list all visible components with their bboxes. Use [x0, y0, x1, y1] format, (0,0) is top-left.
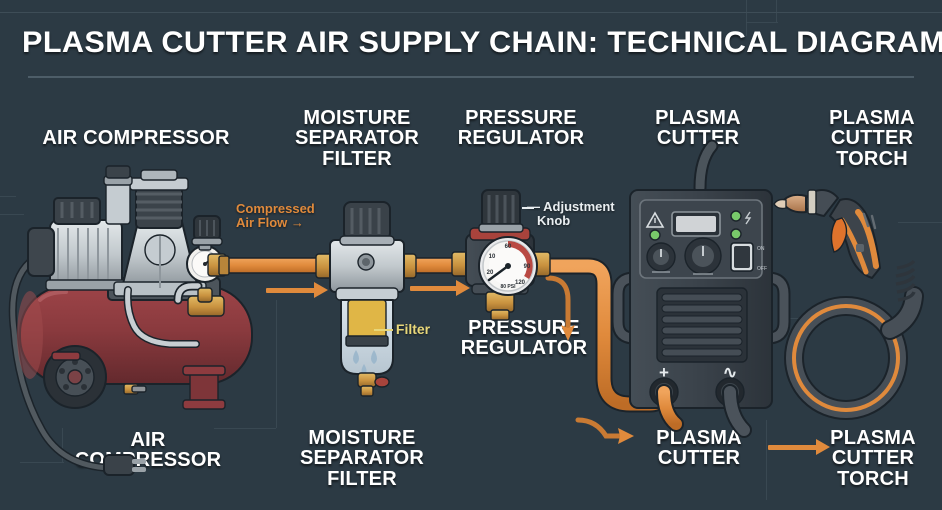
port-symbol-positive: +	[659, 363, 669, 382]
label-line: TORCH	[808, 469, 938, 489]
label-line: CUTTER	[624, 448, 774, 468]
arrow-head	[314, 282, 328, 298]
connector-socket-air	[650, 378, 678, 406]
label-line: SEPARATOR	[282, 128, 432, 148]
label-line: AIR	[34, 430, 262, 450]
page-title: PLASMA CUTTER AIR SUPPLY CHAIN: TECHNICA…	[22, 26, 940, 60]
diagram-canvas: PLASMA CUTTER AIR SUPPLY CHAIN: TECHNICA…	[0, 0, 942, 510]
grid-line	[214, 428, 276, 429]
arrow-head	[816, 439, 830, 455]
vent-grille	[657, 288, 747, 362]
title-bottom-rule	[28, 76, 914, 78]
warning-triangle-icon	[647, 213, 663, 227]
label-line: FILTER	[282, 149, 432, 169]
bottom-label-plasma-cutter: PLASMA CUTTER	[624, 428, 774, 469]
arrow-shaft	[266, 288, 316, 293]
top-label-plasma-cutter: PLASMA CUTTER	[622, 108, 774, 149]
title-top-rule	[0, 12, 942, 13]
control-knob-large	[685, 238, 721, 274]
top-label-moisture-separator-filter: MOISTURE SEPARATOR FILTER	[282, 108, 432, 169]
grid-line	[776, 0, 777, 22]
label-line: PLASMA	[624, 428, 774, 448]
callout-line: — Filter	[378, 322, 458, 337]
callout-adjustment-knob: — Adjustment Knob	[527, 200, 627, 227]
status-led	[650, 230, 660, 240]
callout-compressed-air-flow: Compressed Air Flow →	[236, 202, 332, 229]
top-label-air-compressor: AIR COMPRESSOR	[8, 128, 264, 148]
grid-line	[746, 22, 778, 23]
arrow-head	[456, 280, 470, 296]
top-label-pressure-regulator: PRESSURE REGULATOR	[442, 108, 600, 149]
label-line: PLASMA	[806, 108, 938, 128]
connector-socket-torch	[716, 378, 744, 406]
label-line: PRESSURE	[442, 108, 600, 128]
moisture-separator-filter-illustration	[316, 202, 416, 396]
grid-line	[898, 222, 942, 223]
label-line: MOISTURE	[288, 428, 436, 448]
switch-label-off: OFF	[757, 266, 767, 272]
grid-line	[788, 205, 822, 206]
gauge-tick: 10	[489, 254, 496, 260]
plasma-cutter-illustration: ON OFF + ∿	[618, 146, 784, 430]
callout-line: — Adjustment	[527, 200, 627, 214]
gauge-tick: 60	[505, 244, 512, 250]
label-line: CUTTER	[622, 128, 774, 148]
label-line: PLASMA	[622, 108, 774, 128]
hose-compressor-to-filter	[222, 258, 324, 273]
label-line: SEPARATOR	[288, 448, 436, 468]
grid-line	[786, 318, 826, 319]
arrow-shaft	[768, 445, 818, 450]
lightning-icon	[746, 212, 750, 224]
callout-line: Compressed	[236, 202, 332, 216]
label-line: CUTTER	[806, 128, 938, 148]
grid-line	[276, 300, 277, 428]
hose-filter-to-regulator	[398, 258, 466, 273]
gauge-tick: 90	[524, 264, 531, 270]
grid-line	[0, 196, 16, 197]
control-knob-small	[647, 243, 675, 271]
display-screen	[672, 212, 720, 236]
callout-line: Knob	[527, 214, 627, 228]
label-line: AIR COMPRESSOR	[8, 128, 264, 148]
label-line: PRESSURE	[448, 318, 600, 338]
bottom-label-moisture-separator-filter: MOISTURE SEPARATOR FILTER	[288, 428, 436, 489]
bottom-label-air-compressor: AIR COMPRESSOR	[34, 430, 262, 471]
grid-line	[0, 214, 24, 215]
gauge-tick: 120	[515, 280, 526, 286]
plasma-cutter-torch-illustration	[774, 190, 914, 410]
status-led	[731, 229, 741, 239]
bottom-label-plasma-cutter-torch: PLASMA CUTTER TORCH	[808, 428, 938, 489]
callout-line: Air Flow →	[236, 216, 332, 230]
label-line: COMPRESSOR	[34, 450, 262, 470]
gauge-tick: 20	[487, 270, 494, 276]
mid-label-pressure-regulator: PRESSURE REGULATOR	[448, 318, 600, 359]
label-line: REGULATOR	[448, 338, 600, 358]
arrow-shaft	[410, 286, 458, 291]
gauge-unit: 80 PSI	[500, 284, 516, 290]
switch-label-on: ON	[757, 246, 765, 252]
port-symbol-ac: ∿	[723, 363, 737, 382]
label-line: REGULATOR	[442, 128, 600, 148]
label-line: TORCH	[806, 149, 938, 169]
label-line: MOISTURE	[282, 108, 432, 128]
callout-filter: — Filter	[378, 322, 458, 337]
label-line: FILTER	[288, 469, 436, 489]
status-led	[731, 211, 741, 221]
top-label-plasma-cutter-torch: PLASMA CUTTER TORCH	[806, 108, 938, 169]
